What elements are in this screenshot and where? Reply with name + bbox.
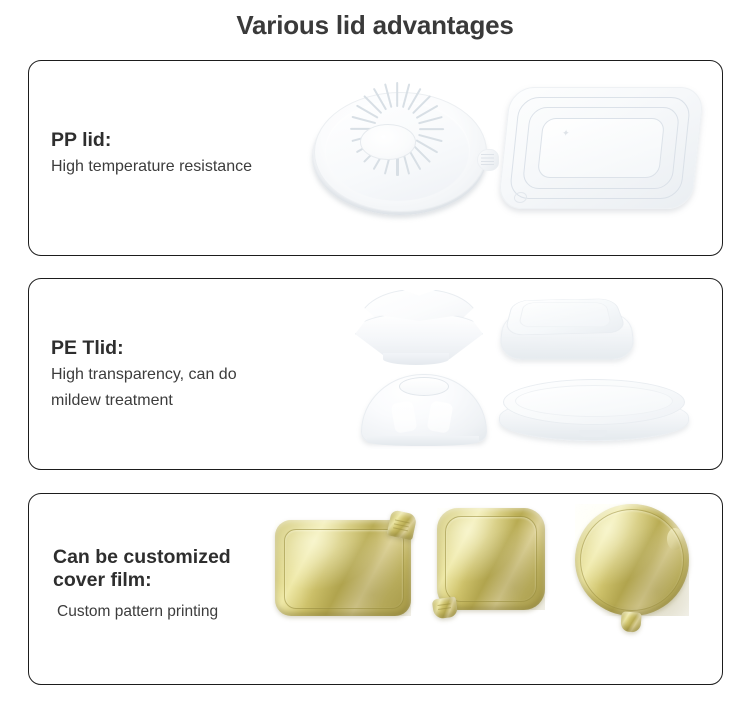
square-pet-lid-image: [499, 287, 635, 367]
foil-pull-tab: [432, 596, 459, 619]
product-image-group: [347, 279, 722, 469]
lid-ridge-inner: [537, 118, 665, 178]
foil-emboss-outline: [580, 509, 684, 611]
square-gold-cover-film-image: [437, 508, 555, 620]
round-ribbed-pp-lid-image: [312, 89, 487, 217]
rectangular-gold-cover-film-image: [275, 512, 417, 618]
foil-pull-tab: [387, 510, 418, 541]
lid-inner-face: [518, 303, 612, 328]
foil-emboss-outline: [284, 529, 404, 609]
oval-flat-pet-lid-image: [499, 379, 687, 445]
product-image-group: ✦: [302, 61, 722, 255]
panel-description: High temperature resistance: [51, 154, 252, 180]
rectangular-pp-lid-image: ✦: [500, 81, 700, 213]
lid-pull-tab: [477, 149, 499, 171]
foil-pull-tab: [620, 611, 641, 632]
lid-straw-hole: [399, 377, 449, 396]
feature-panel-cover-film: Can be customized cover film: Custom pat…: [28, 493, 723, 685]
panel-text-block: PE Tlid: High transparency, can do milde…: [51, 337, 237, 413]
panel-heading: PE Tlid:: [51, 337, 237, 360]
panel-heading: Can be customized cover film:: [53, 546, 231, 591]
lid-base-rim: [367, 436, 479, 446]
lid-notch: [579, 430, 607, 437]
page-title: Various lid advantages: [0, 10, 750, 41]
panel-description: High transparency, can do mildew treatme…: [51, 362, 237, 414]
product-image-group: [267, 494, 722, 684]
lid-embossed-mark: ✦: [561, 128, 570, 139]
feature-panel-pet-lid: PE Tlid: High transparency, can do milde…: [28, 278, 723, 470]
lid-center-hub: [360, 124, 416, 160]
heart-shaped-pet-lid-image: [355, 289, 483, 367]
foil-emboss-outline: [445, 516, 537, 602]
lid-inner-ring: [515, 385, 673, 417]
panel-description: Custom pattern printing: [53, 593, 231, 624]
lid-bottom-lip: [383, 353, 449, 365]
dome-pet-lid-image: [361, 374, 485, 446]
panel-text-block: PP lid: High temperature resistance: [51, 129, 252, 180]
round-gold-cover-film-image: [575, 504, 699, 626]
panel-heading: PP lid:: [51, 129, 252, 152]
feature-panel-pp-lid: PP lid: High temperature resistance: [28, 60, 723, 256]
panel-text-block: Can be customized cover film: Custom pat…: [53, 546, 231, 624]
